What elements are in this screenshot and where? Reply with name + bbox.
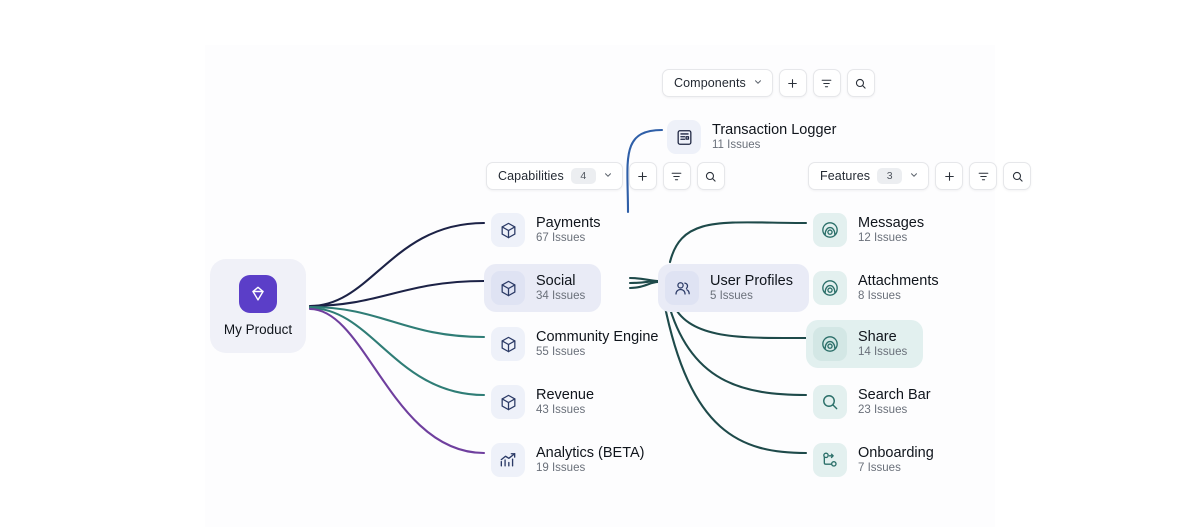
node-title: Payments <box>536 215 600 232</box>
root-label: My Product <box>224 322 292 337</box>
node-payments[interactable]: Payments 67 Issues <box>484 206 616 254</box>
node-issue-count: 23 Issues <box>858 404 931 417</box>
plus-icon <box>636 170 649 183</box>
node-title: Transaction Logger <box>712 122 836 139</box>
capabilities-dropdown-label: Capabilities <box>498 169 564 183</box>
node-title: Analytics (BETA) <box>536 445 645 462</box>
node-issue-count: 7 Issues <box>858 462 934 475</box>
capabilities-count-badge: 4 <box>571 168 596 184</box>
flow-node-icon <box>813 443 847 477</box>
components-dropdown-label: Components <box>674 76 746 90</box>
features-dropdown-label: Features <box>820 169 870 183</box>
arcs-icon <box>813 271 847 305</box>
features-dropdown[interactable]: Features 3 <box>808 162 929 190</box>
features-add-button[interactable] <box>935 162 963 190</box>
node-title: Search Bar <box>858 387 931 404</box>
mindmap-canvas[interactable]: My Product Components Capabi <box>0 0 1200 527</box>
node-messages[interactable]: Messages 12 Issues <box>806 206 940 254</box>
node-issue-count: 8 Issues <box>858 290 939 303</box>
components-search-button[interactable] <box>847 69 875 97</box>
search-icon <box>854 77 867 90</box>
node-my-product[interactable]: My Product <box>210 259 306 353</box>
diamond-icon <box>239 275 277 313</box>
node-issue-count: 19 Issues <box>536 462 645 475</box>
toolbar-components[interactable]: Components <box>662 69 875 97</box>
capabilities-filter-button[interactable] <box>663 162 691 190</box>
features-filter-button[interactable] <box>969 162 997 190</box>
filter-icon <box>670 170 683 183</box>
toolbar-capabilities[interactable]: Capabilities 4 <box>486 162 725 190</box>
arcs-icon <box>813 213 847 247</box>
node-title: Revenue <box>536 387 594 404</box>
users-icon <box>665 271 699 305</box>
chevron-down-icon <box>753 74 763 92</box>
node-issue-count: 5 Issues <box>710 290 793 303</box>
node-onboarding[interactable]: Onboarding 7 Issues <box>806 436 950 484</box>
capabilities-search-button[interactable] <box>697 162 725 190</box>
components-add-button[interactable] <box>779 69 807 97</box>
search-icon <box>1011 170 1024 183</box>
node-attachments[interactable]: Attachments 8 Issues <box>806 264 955 312</box>
bar-chart-icon <box>491 443 525 477</box>
node-issue-count: 55 Issues <box>536 346 659 359</box>
node-issue-count: 11 Issues <box>712 139 836 152</box>
node-title: Community Engine <box>536 329 659 346</box>
capabilities-dropdown[interactable]: Capabilities 4 <box>486 162 623 190</box>
cube-icon <box>491 213 525 247</box>
capabilities-add-button[interactable] <box>629 162 657 190</box>
document-icon <box>667 120 701 154</box>
features-count-badge: 3 <box>877 168 902 184</box>
node-issue-count: 34 Issues <box>536 290 585 303</box>
node-title: Attachments <box>858 273 939 290</box>
chevron-down-icon <box>603 167 613 185</box>
cube-icon <box>491 327 525 361</box>
filter-icon <box>977 170 990 183</box>
plus-icon <box>943 170 956 183</box>
node-issue-count: 43 Issues <box>536 404 594 417</box>
node-issue-count: 14 Issues <box>858 346 907 359</box>
search-icon <box>704 170 717 183</box>
node-title: User Profiles <box>710 273 793 290</box>
components-filter-button[interactable] <box>813 69 841 97</box>
plus-icon <box>786 77 799 90</box>
chevron-down-icon <box>909 167 919 185</box>
node-title: Messages <box>858 215 924 232</box>
node-issue-count: 12 Issues <box>858 232 924 245</box>
node-social[interactable]: Social 34 Issues <box>484 264 601 312</box>
node-title: Share <box>858 329 907 346</box>
node-issue-count: 67 Issues <box>536 232 600 245</box>
node-community-engine[interactable]: Community Engine 55 Issues <box>484 320 675 368</box>
cube-icon <box>491 271 525 305</box>
node-revenue[interactable]: Revenue 43 Issues <box>484 378 610 426</box>
node-user-profiles[interactable]: User Profiles 5 Issues <box>658 264 809 312</box>
filter-icon <box>820 77 833 90</box>
node-title: Onboarding <box>858 445 934 462</box>
features-search-button[interactable] <box>1003 162 1031 190</box>
node-share[interactable]: Share 14 Issues <box>806 320 923 368</box>
components-dropdown[interactable]: Components <box>662 69 773 97</box>
search-icon <box>813 385 847 419</box>
toolbar-features[interactable]: Features 3 <box>808 162 1031 190</box>
cube-icon <box>491 385 525 419</box>
node-transaction-logger[interactable]: Transaction Logger 11 Issues <box>660 113 852 161</box>
node-title: Social <box>536 273 585 290</box>
node-analytics-beta[interactable]: Analytics (BETA) 19 Issues <box>484 436 661 484</box>
arcs-icon <box>813 327 847 361</box>
node-search-bar[interactable]: Search Bar 23 Issues <box>806 378 947 426</box>
